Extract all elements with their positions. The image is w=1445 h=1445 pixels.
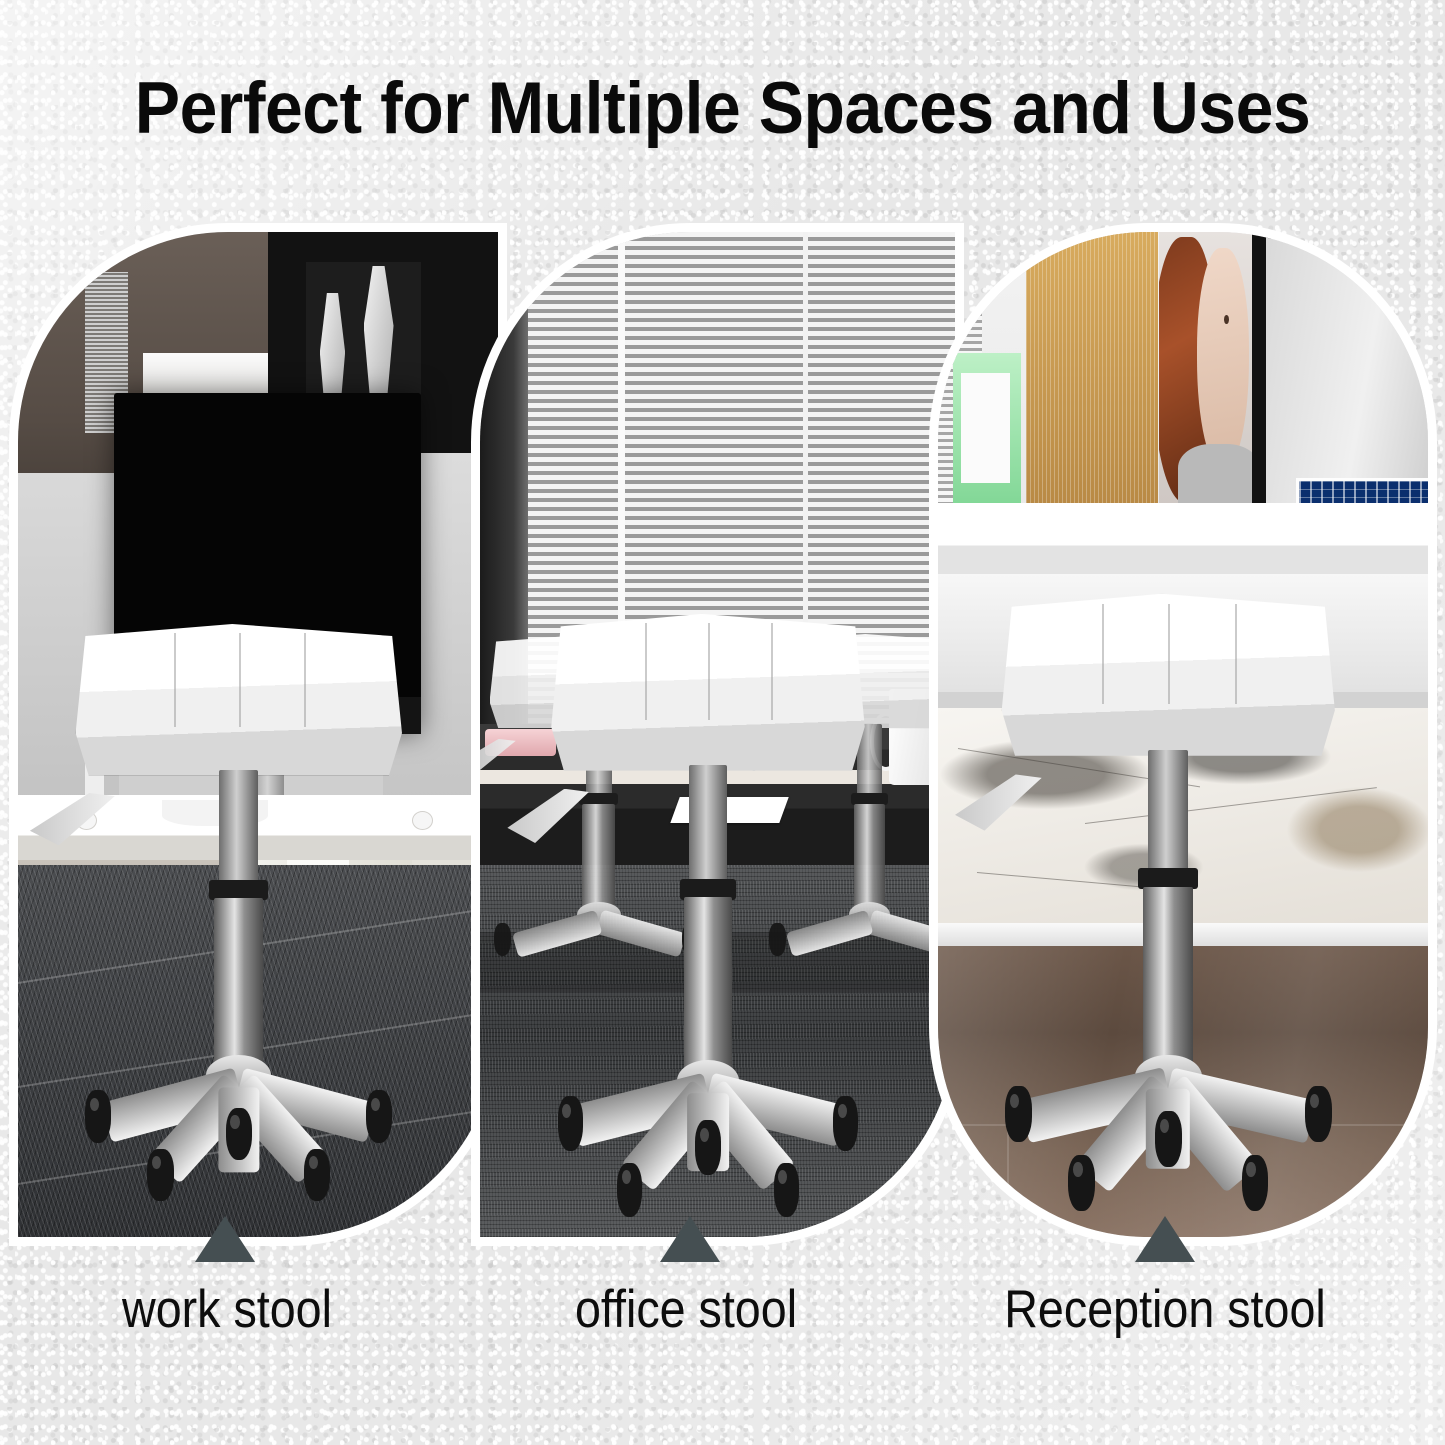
seat-tuft-line — [708, 623, 710, 720]
poster-shoulder — [1178, 444, 1260, 504]
gas-cylinder-upper — [689, 765, 727, 886]
caster-wheel — [226, 1108, 252, 1160]
page-title: Perfect for Multiple Spaces and Uses — [51, 72, 1395, 145]
panel-office-stool — [480, 232, 955, 1237]
desk-grommet-right — [412, 811, 433, 830]
stool-office — [551, 614, 865, 1217]
stool-seat — [551, 614, 865, 771]
caster-wheel — [1305, 1086, 1332, 1142]
caption-work-stool: work stool — [121, 1283, 332, 1336]
poster-eye — [1224, 315, 1229, 324]
panel-reception-stool — [938, 232, 1428, 1237]
stool-seat — [76, 624, 402, 776]
reception-wall-right — [1266, 232, 1428, 503]
panel-work-stool: DELL — [18, 232, 498, 1237]
stool-work — [76, 624, 402, 1207]
caster-wheel — [774, 1163, 799, 1217]
gas-cylinder-lower — [684, 897, 731, 1072]
wood-panel — [1026, 232, 1158, 503]
caster-wheel — [85, 1090, 111, 1142]
gas-cylinder-upper — [1148, 750, 1188, 875]
gas-cylinder-upper — [219, 770, 258, 887]
seat-tuft-line — [1235, 604, 1237, 704]
caster-wheel — [558, 1096, 583, 1150]
seat-tuft-line — [1102, 604, 1104, 704]
notice-paper — [961, 373, 1010, 484]
caster-wheel — [1005, 1086, 1032, 1142]
seat-tuft-line — [645, 623, 647, 720]
caster-wheel — [366, 1090, 392, 1142]
model-poster — [1159, 232, 1267, 503]
seat-tuft-line — [174, 633, 176, 727]
panel-collage: DELL — [18, 232, 1428, 1237]
caption-reception-stool: Reception stool — [989, 1283, 1341, 1336]
reception-counter-top — [938, 503, 1428, 573]
marker-triangle-work — [195, 1216, 255, 1262]
seat-tuft-line — [239, 633, 241, 727]
poster-face — [1197, 248, 1249, 471]
seat-tuft-line — [304, 633, 306, 727]
marker-triangle-office — [660, 1216, 720, 1262]
gas-cylinder-lower — [214, 898, 263, 1067]
caster-wheel — [617, 1163, 642, 1217]
caster-wheel — [1242, 1155, 1269, 1211]
stool-reception — [1002, 594, 1335, 1217]
seat-tuft-line — [771, 623, 773, 720]
caster-wheel — [833, 1096, 858, 1150]
caster-wheel — [494, 923, 511, 956]
caster-wheel — [147, 1149, 173, 1201]
cylinder-collar — [1138, 868, 1198, 889]
caster-wheel — [304, 1149, 330, 1201]
caster-wheel — [1155, 1111, 1182, 1167]
seat-tuft-line — [1168, 604, 1170, 704]
gas-cylinder-lower — [1143, 887, 1193, 1068]
stool-seat — [1002, 594, 1335, 756]
caster-wheel — [695, 1120, 720, 1174]
caption-office-stool: office stool — [572, 1283, 801, 1336]
marker-triangle-reception — [1135, 1216, 1195, 1262]
caster-wheel — [1068, 1155, 1095, 1211]
